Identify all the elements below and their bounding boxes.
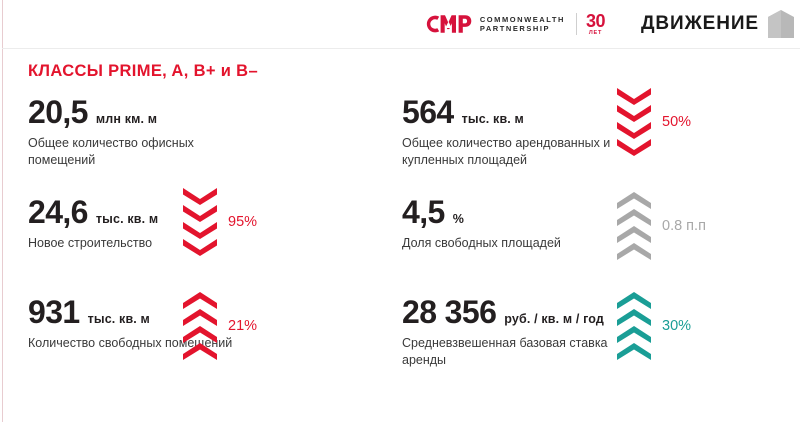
chevron-down-stack-icon	[617, 88, 651, 156]
cmp-logo-icon	[426, 12, 474, 36]
stat-block: 4,5%Доля свободных площадей0.8 п.п	[402, 196, 792, 296]
chevron-up-icon	[617, 292, 651, 309]
chevron-down-icon	[183, 188, 217, 205]
chevron-down-icon	[183, 222, 217, 239]
stat-unit: тыс. кв. м	[96, 212, 158, 226]
stat-block: 564тыс. кв. мОбщее количество арендованн…	[402, 96, 792, 196]
stat-value: 564	[402, 96, 454, 128]
slide-header: COMMONWEALTH PARTNERSHIP 30 ЛЕТ ДВИЖЕНИЕ	[0, 0, 800, 48]
stat-caption: Доля свободных площадей	[402, 235, 652, 252]
trend-indicator: 50%	[617, 88, 691, 156]
chevron-down-icon	[183, 205, 217, 222]
stat-caption: Средневзвешенная базовая ставка аренды	[402, 335, 652, 368]
stat-block: 28 356руб. / кв. м / годСредневзвешенная…	[402, 296, 792, 396]
left-edge-rule	[2, 0, 3, 422]
trend-indicator: 21%	[183, 292, 257, 360]
stat-caption: Общее количество арендованных и купленны…	[402, 135, 652, 168]
header-divider	[2, 48, 800, 49]
stat-unit: %	[453, 212, 464, 226]
stats-column-left: 20,5млн км. мОбщее количество офисных по…	[28, 96, 388, 396]
chevron-up-icon	[617, 192, 651, 209]
chevron-up-stack-icon	[617, 192, 651, 260]
chevron-up-icon	[183, 292, 217, 309]
stat-block: 24,6тыс. кв. мНовое строительство95%	[28, 196, 388, 296]
cmp-brand-lockup: COMMONWEALTH PARTNERSHIP 30 ЛЕТ	[426, 9, 605, 39]
chevron-down-icon	[617, 88, 651, 105]
chevron-down-icon	[617, 139, 651, 156]
stat-headline: 4,5%	[402, 196, 792, 228]
stat-unit: тыс. кв. м	[88, 312, 150, 326]
chevron-up-icon	[617, 326, 651, 343]
chevron-up-icon	[617, 209, 651, 226]
chevron-up-icon	[183, 343, 217, 360]
stat-headline: 28 356руб. / кв. м / год	[402, 296, 792, 328]
cmp-wordmark: COMMONWEALTH PARTNERSHIP	[480, 15, 565, 33]
chevron-up-icon	[183, 309, 217, 326]
stat-headline: 564тыс. кв. м	[402, 96, 792, 128]
chevron-down-icon	[617, 122, 651, 139]
cmp-wordmark-line2: PARTNERSHIP	[480, 25, 565, 33]
chevron-up-stack-icon	[183, 292, 217, 360]
trend-delta-label: 50%	[662, 114, 691, 130]
chevron-up-icon	[617, 226, 651, 243]
trend-indicator: 30%	[617, 292, 691, 360]
anniversary-badge: 30 ЛЕТ	[586, 12, 605, 37]
chevron-down-icon	[617, 105, 651, 122]
stat-value: 4,5	[402, 196, 445, 228]
stats-column-right: 564тыс. кв. мОбщее количество арендованн…	[402, 96, 792, 396]
stat-unit: млн км. м	[96, 112, 157, 126]
trend-delta-label: 21%	[228, 318, 257, 334]
stat-block: 931тыс. кв. мКоличество свободных помеще…	[28, 296, 388, 396]
chevron-up-stack-icon	[617, 292, 651, 360]
trend-delta-label: 30%	[662, 318, 691, 334]
trend-indicator: 95%	[183, 188, 257, 256]
chevron-up-icon	[617, 309, 651, 326]
stat-unit: руб. / кв. м / год	[504, 312, 604, 326]
stat-value: 28 356	[402, 296, 496, 328]
page-title: КЛАССЫ PRIME, A, B+ и B–	[28, 62, 258, 81]
stat-value: 24,6	[28, 196, 88, 228]
chevron-down-icon	[183, 239, 217, 256]
movement-title: ДВИЖЕНИЕ	[641, 13, 759, 35]
stat-block: 20,5млн км. мОбщее количество офисных по…	[28, 96, 388, 196]
anniversary-number: 30	[586, 12, 605, 30]
stat-caption: Общее количество офисных помещений	[28, 135, 258, 168]
brand-divider	[576, 13, 577, 35]
chevron-up-icon	[183, 326, 217, 343]
trend-delta-label: 0.8 п.п	[662, 218, 706, 234]
chevron-up-icon	[617, 343, 651, 360]
stat-headline: 20,5млн км. м	[28, 96, 388, 128]
anniversary-word: ЛЕТ	[589, 31, 602, 37]
trend-delta-label: 95%	[228, 214, 257, 230]
stat-unit: тыс. кв. м	[462, 112, 524, 126]
building-icon	[768, 10, 794, 38]
trend-indicator: 0.8 п.п	[617, 192, 706, 260]
stat-value: 20,5	[28, 96, 88, 128]
chevron-down-stack-icon	[183, 188, 217, 256]
chevron-up-icon	[617, 243, 651, 260]
stat-value: 931	[28, 296, 80, 328]
